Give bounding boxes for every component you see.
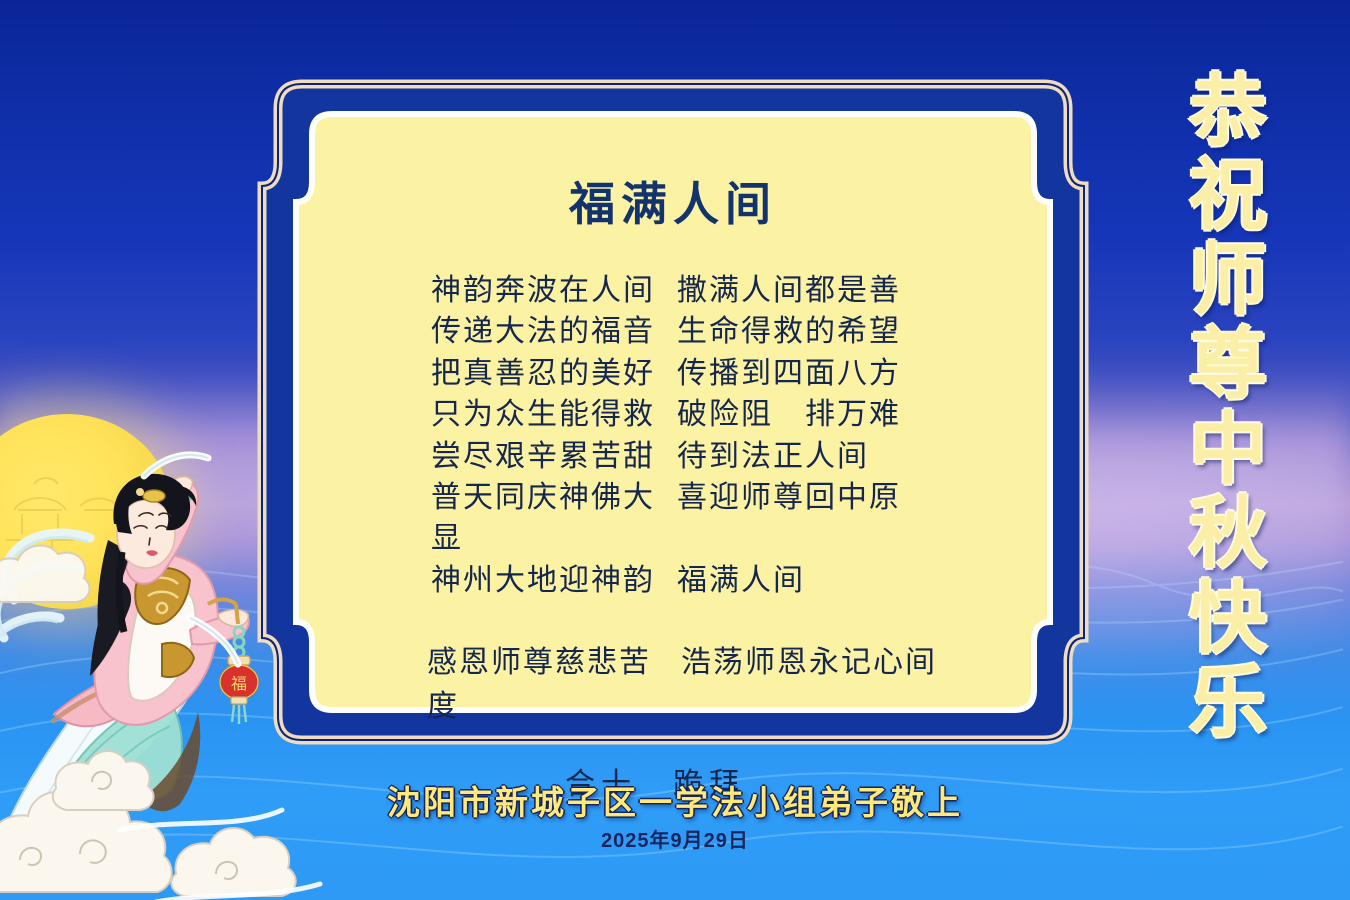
greeting-card: 福满人间 神韵奔波在人间 撒满人间都是善 传递大法的福音 生命得救的希望 把真善… bbox=[256, 78, 1090, 746]
greeting-char: 尊 bbox=[1189, 327, 1267, 403]
poem-spacer bbox=[312, 601, 1034, 637]
poem-line-right: 传播到四面八方 bbox=[677, 353, 939, 394]
poem-line-left: 尝尽艰辛累苦甜 bbox=[407, 436, 677, 477]
poem-line-right: 福满人间 bbox=[677, 560, 939, 601]
card-content: 福满人间 神韵奔波在人间 撒满人间都是善 传递大法的福音 生命得救的希望 把真善… bbox=[278, 100, 1068, 724]
poem-line: 把真善忍的美好 传播到四面八方 bbox=[312, 353, 1034, 394]
greeting-char: 快 bbox=[1189, 581, 1267, 657]
auspicious-clouds-moon bbox=[0, 520, 170, 610]
couplet-right: 浩荡师恩永记心间 bbox=[681, 637, 943, 725]
poem-line: 神韵奔波在人间 撒满人间都是善 bbox=[312, 270, 1034, 311]
poem-line: 普天同庆神佛大显 喜迎师尊回中原 bbox=[312, 477, 1034, 560]
poem-line-right: 撒满人间都是善 bbox=[677, 270, 939, 311]
poem-line: 神州大地迎神韵 福满人间 bbox=[312, 560, 1034, 601]
date-text: 2025年9月29日 bbox=[0, 824, 1350, 853]
couplet-left: 感恩师尊慈悲苦度 bbox=[403, 637, 681, 725]
poem-line-left: 把真善忍的美好 bbox=[407, 353, 677, 394]
poem-line: 尝尽艰辛累苦甜 待到法正人间 bbox=[312, 436, 1034, 477]
closing-couplet: 感恩师尊慈悲苦度 浩荡师恩永记心间 bbox=[312, 637, 1034, 725]
sender-attribution: 沈阳市新城子区一学法小组弟子敬上 bbox=[0, 776, 1350, 824]
poem-line-left: 神韵奔波在人间 bbox=[407, 270, 677, 311]
poem-line: 只为众生能得救 破险阻 排万难 bbox=[312, 394, 1034, 435]
poem-title: 福满人间 bbox=[569, 168, 777, 234]
poem-line-left: 传递大法的福音 bbox=[407, 311, 677, 352]
poem-line: 传递大法的福音 生命得救的希望 bbox=[312, 311, 1034, 352]
poem-body: 神韵奔波在人间 撒满人间都是善 传递大法的福音 生命得救的希望 把真善忍的美好 … bbox=[312, 270, 1034, 803]
vertical-greeting: 恭 祝 师 尊 中 秋 快 乐 bbox=[1168, 74, 1288, 742]
poem-line-right: 待到法正人间 bbox=[677, 436, 939, 477]
poem-line-right: 喜迎师尊回中原 bbox=[677, 477, 939, 560]
poem-line-right: 生命得救的希望 bbox=[677, 311, 939, 352]
poem-line-left: 只为众生能得救 bbox=[407, 394, 677, 435]
greeting-char: 中 bbox=[1189, 412, 1267, 488]
greeting-char: 师 bbox=[1189, 243, 1267, 319]
greeting-card-image: 福 bbox=[0, 0, 1350, 900]
greeting-char: 乐 bbox=[1189, 665, 1267, 741]
greeting-char: 恭 bbox=[1189, 74, 1267, 150]
poem-line-left: 普天同庆神佛大显 bbox=[407, 477, 677, 560]
poem-line-left: 神州大地迎神韵 bbox=[407, 560, 677, 601]
greeting-char: 祝 bbox=[1189, 158, 1267, 234]
poem-line-right: 破险阻 排万难 bbox=[677, 394, 939, 435]
greeting-char: 秋 bbox=[1189, 496, 1267, 572]
lantern-fu-character: 福 bbox=[231, 674, 247, 693]
